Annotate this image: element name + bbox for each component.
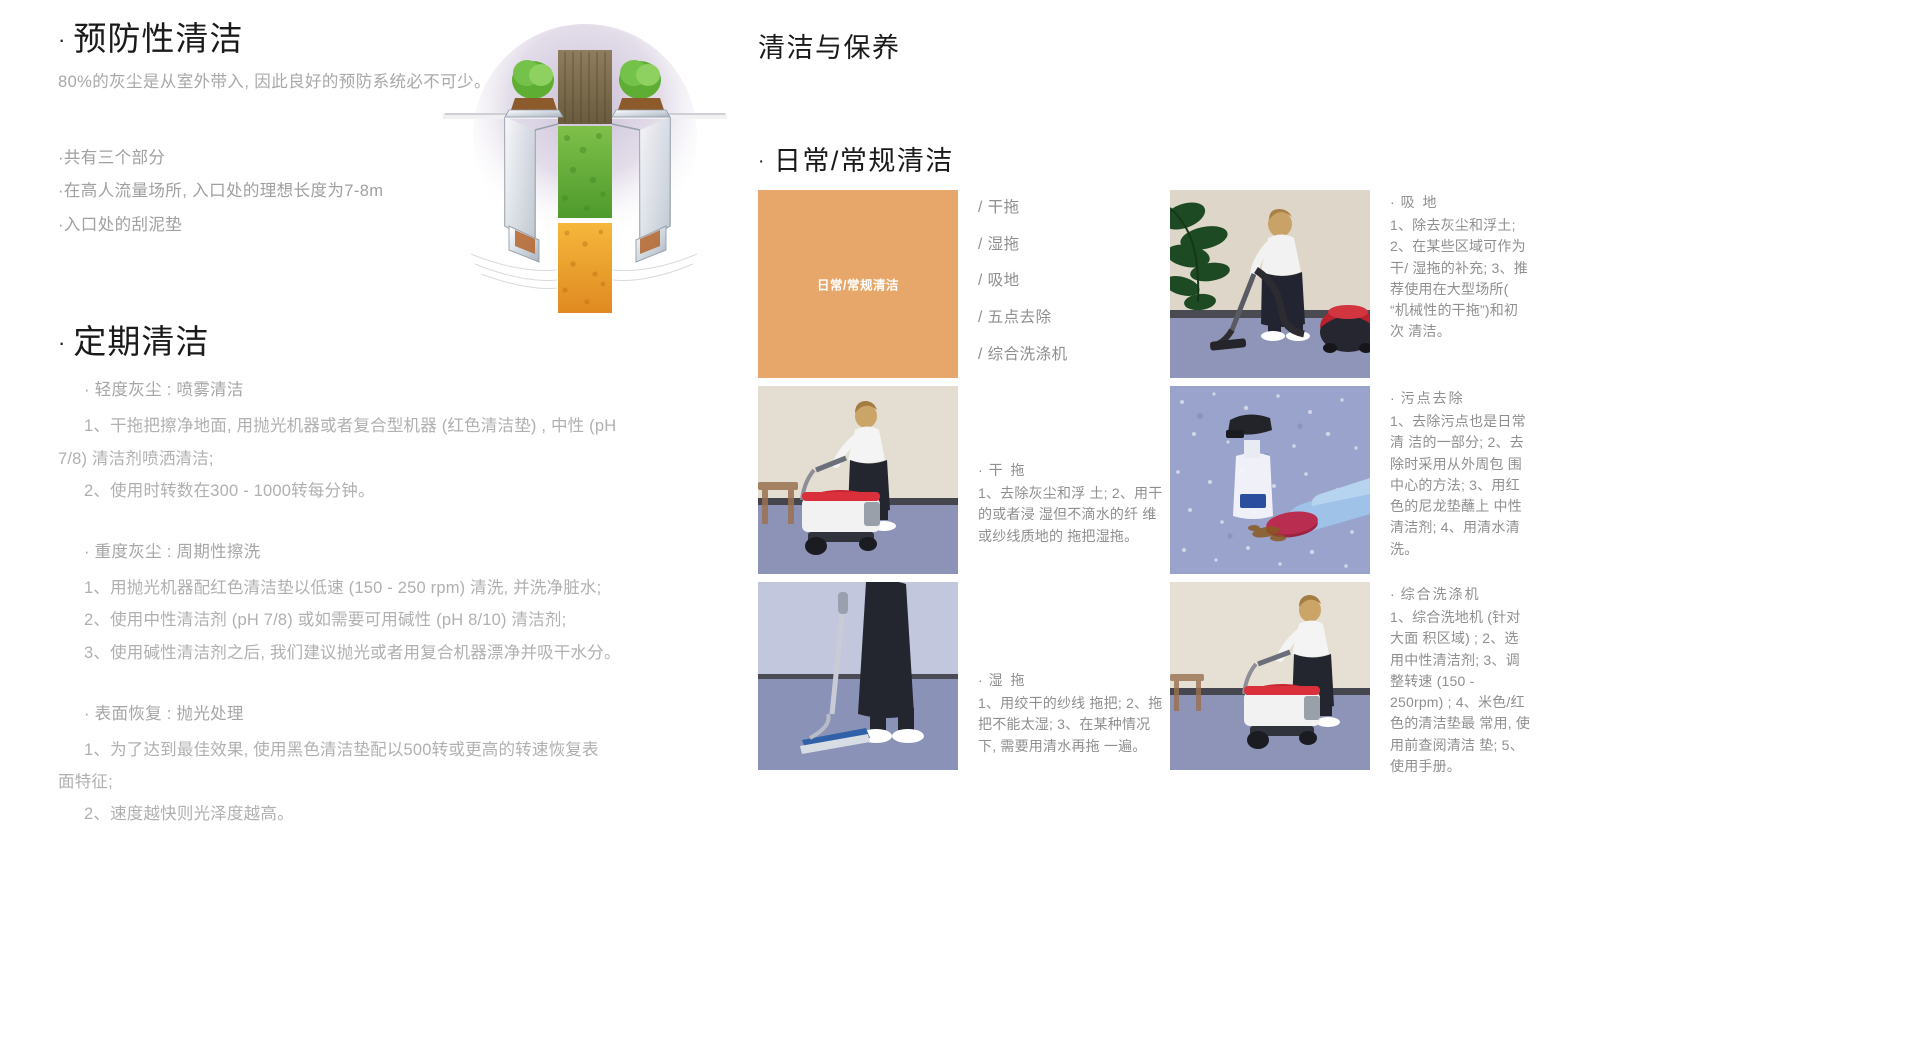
- wet-mopping-photo-art: [758, 582, 958, 770]
- scrubber-caption-body: 1、综合洗地机 (针对大面 积区域) ; 2、选用中性清洁剂; 3、调整转速 (…: [1390, 607, 1531, 777]
- method-menu-list: / 干拖 / 湿拖 / 吸地 / 五点去除 / 综合洗涤机: [964, 190, 1164, 378]
- heavy-dust-line-2: 2、使用中性清洁剂 (pH 7/8) 或如需要可用碱性 (pH 8/10) 清洁…: [58, 604, 758, 636]
- daily-routine-cleaning-subheading: ·日常/常规清洁: [758, 139, 1888, 178]
- menu-item-vacuum[interactable]: / 吸地: [978, 263, 1164, 300]
- bullet-dot-icon: ·: [1390, 390, 1397, 406]
- right-column-headings: 清洁与保养 ·日常/常规清洁: [758, 26, 1888, 178]
- light-dust-group: · 轻度灰尘 : 喷雾清洁 1、干拖把擦净地面, 用抛光机器或者复合型机器 (红…: [58, 375, 758, 507]
- vacuum-caption: ·吸 地 1、除去灰尘和浮土; 2、在某些区域可作为干/ 湿拖的补充; 3、推荐…: [1376, 190, 1531, 378]
- preventive-cleaning-title-text: 预防性清洁: [73, 20, 243, 57]
- wet-mop-caption-title-text: 湿 拖: [989, 672, 1027, 688]
- menu-item-wet-mop[interactable]: / 湿拖: [978, 227, 1164, 264]
- dry-mop-caption-body: 1、去除灰尘和浮 土; 2、用干的或者浸 湿但不滴水的纤 维或纱线质地的 拖把湿…: [978, 483, 1164, 547]
- vacuuming-photo-art: [1170, 190, 1370, 378]
- surface-restore-lead: · 表面恢复 : 抛光处理: [58, 699, 758, 730]
- menu-item-scrubber[interactable]: / 综合洗涤机: [978, 337, 1164, 374]
- periodic-cleaning-title-text: 定期清洁: [73, 323, 209, 360]
- wet-mopping-photo: [758, 582, 958, 770]
- spot-caption-body: 1、去除污点也是日常清 洁的一部分; 2、去除时采用从外周包 围中心的方法; 3…: [1390, 411, 1531, 560]
- bullet-dot-icon: ·: [978, 462, 985, 478]
- menu-item-dry-mop[interactable]: / 干拖: [978, 190, 1164, 227]
- scrubber-caption: ·综合洗涤机 1、综合洗地机 (针对大面 积区域) ; 2、选用中性清洁剂; 3…: [1376, 582, 1531, 777]
- grid-row-2: ·干 拖 1、去除灰尘和浮 土; 2、用干的或者浸 湿但不滴水的纤 维或纱线质地…: [758, 386, 1898, 574]
- surface-restore-line-1: 1、为了达到最佳效果, 使用黑色清洁垫配以500转或更高的转速恢复表: [58, 734, 758, 766]
- daily-routine-cleaning-text: 日常/常规清洁: [774, 146, 954, 176]
- scrubber-photo-right: [1170, 582, 1370, 770]
- heavy-dust-lead: · 重度灰尘 : 周期性擦洗: [58, 537, 758, 568]
- surface-restore-line-3: 2、速度越快则光泽度越高。: [58, 798, 758, 830]
- bullet-dot-icon: ·: [58, 27, 66, 52]
- bullet-dot-icon: ·: [978, 672, 985, 688]
- wet-mop-caption-title: ·湿 拖: [978, 670, 1164, 691]
- bullet-dot-icon: ·: [1390, 586, 1397, 602]
- dry-mop-caption-title: ·干 拖: [978, 460, 1164, 481]
- spot-removal-photo-art: [1170, 386, 1370, 574]
- vacuum-caption-title: ·吸 地: [1390, 192, 1531, 213]
- spot-caption-title-text: 污点去除: [1401, 390, 1465, 406]
- wet-mop-caption: ·湿 拖 1、用绞干的纱线 拖把; 2、拖把不能太湿; 3、在某种情况下, 需要…: [964, 582, 1164, 777]
- orange-box: 日常/常规清洁: [758, 190, 958, 378]
- scrubber-caption-title: ·综合洗涤机: [1390, 584, 1531, 605]
- grid-row-1: 日常/常规清洁 / 干拖 / 湿拖 / 吸地 / 五点去除 / 综合洗涤机: [758, 190, 1898, 378]
- grid-row-3: ·湿 拖 1、用绞干的纱线 拖把; 2、拖把不能太湿; 3、在某种情况下, 需要…: [758, 582, 1898, 777]
- wet-mop-caption-body: 1、用绞干的纱线 拖把; 2、拖把不能太湿; 3、在某种情况下, 需要用清水再拖…: [978, 693, 1164, 757]
- scrubber-photo-right-art: [1170, 582, 1370, 770]
- scrubber-caption-title-text: 综合洗涤机: [1401, 586, 1481, 602]
- routine-cleaning-grid: 日常/常规清洁 / 干拖 / 湿拖 / 吸地 / 五点去除 / 综合洗涤机: [758, 190, 1898, 785]
- spot-caption-title: ·污点去除: [1390, 388, 1531, 409]
- vacuum-caption-body: 1、除去灰尘和浮土; 2、在某些区域可作为干/ 湿拖的补充; 3、推荐使用在大型…: [1390, 215, 1531, 343]
- bullet-dot-icon: ·: [1390, 194, 1397, 210]
- bullet-dot-icon: ·: [758, 151, 766, 172]
- bullet-dot-icon: ·: [58, 330, 66, 355]
- spot-caption: ·污点去除 1、去除污点也是日常清 洁的一部分; 2、去除时采用从外周包 围中心…: [1376, 386, 1531, 574]
- heavy-dust-line-1: 1、用抛光机器配红色清洁垫以低速 (150 - 250 rpm) 清洗, 并洗净…: [58, 572, 758, 604]
- spot-removal-photo: [1170, 386, 1370, 574]
- orange-label-tile: 日常/常规清洁: [758, 190, 958, 378]
- heavy-dust-line-3: 3、使用碱性清洁剂之后, 我们建议抛光或者用复合机器漂净并吸干水分。: [58, 637, 758, 669]
- entrance-matting-illustration: [435, 18, 735, 338]
- orange-box-label: 日常/常规清洁: [817, 275, 899, 294]
- slide-root: ·预防性清洁 80%的灰尘是从室外带入, 因此良好的预防系统必不可少。 ·共有三…: [0, 0, 1920, 1037]
- scrubber-photo-left-art: [758, 386, 958, 574]
- cleaning-and-maintenance-heading: 清洁与保养: [758, 26, 1888, 65]
- vacuum-caption-title-text: 吸 地: [1401, 194, 1439, 210]
- dry-mop-caption-title-text: 干 拖: [989, 462, 1027, 478]
- heavy-dust-group: · 重度灰尘 : 周期性擦洗 1、用抛光机器配红色清洁垫以低速 (150 - 2…: [58, 537, 758, 669]
- light-dust-line-2: 7/8) 清洁剂喷洒清洁;: [58, 443, 758, 475]
- vacuuming-photo: [1170, 190, 1370, 378]
- dry-mop-caption: ·干 拖 1、去除灰尘和浮 土; 2、用干的或者浸 湿但不滴水的纤 维或纱线质地…: [964, 386, 1164, 574]
- light-dust-line-1: 1、干拖把擦净地面, 用抛光机器或者复合型机器 (红色清洁垫) , 中性 (pH: [58, 410, 758, 442]
- surface-restore-group: · 表面恢复 : 抛光处理 1、为了达到最佳效果, 使用黑色清洁垫配以500转或…: [58, 699, 758, 831]
- light-dust-line-3: 2、使用时转数在300 - 1000转每分钟。: [58, 475, 758, 507]
- surface-restore-line-2: 面特征;: [58, 766, 758, 798]
- menu-item-spot-removal[interactable]: / 五点去除: [978, 300, 1164, 337]
- scrubber-photo-left: [758, 386, 958, 574]
- entrance-matting-diagram: [435, 18, 735, 338]
- light-dust-lead: · 轻度灰尘 : 喷雾清洁: [58, 375, 758, 406]
